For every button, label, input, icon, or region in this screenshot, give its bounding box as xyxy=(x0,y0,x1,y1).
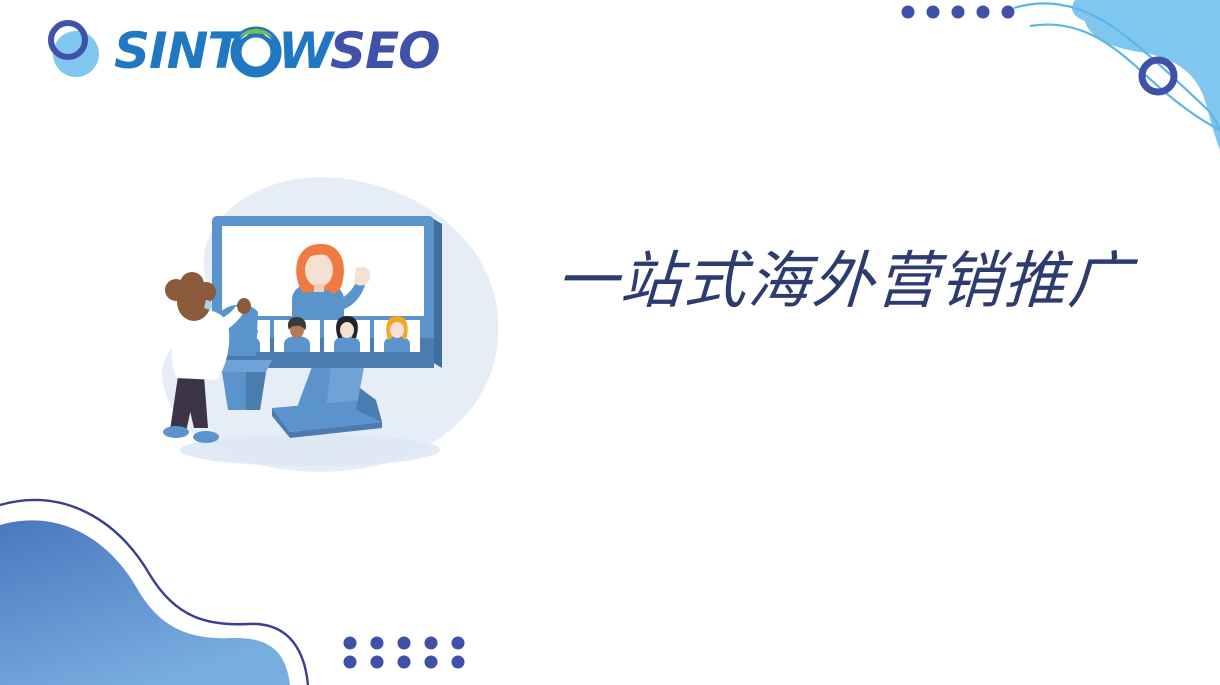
logo-text-w: W xyxy=(278,22,336,80)
bottom-dot-grid xyxy=(344,637,465,669)
presenter-hand xyxy=(237,298,251,314)
logo-o-glyph xyxy=(236,29,276,72)
participant-thumb-2 xyxy=(274,317,320,352)
video-conference-illustration xyxy=(120,160,520,500)
bottom-left-blob xyxy=(0,520,290,685)
headline: 一站式海外营销推广 xyxy=(556,238,1156,324)
floor-shadow xyxy=(180,434,440,466)
slide-canvas: SINT W SEO xyxy=(0,0,1220,685)
top-dot-row xyxy=(902,6,1015,19)
brand-logo[interactable]: SINT W SEO xyxy=(40,14,460,86)
participant-thumb-4 xyxy=(374,316,420,352)
navy-ring-decoration xyxy=(1142,60,1174,92)
presenter-shoe-back xyxy=(193,431,219,443)
headline-text: 一站式海外营销推广 xyxy=(554,248,1133,313)
logo-text-seo: SEO xyxy=(330,22,440,80)
bottom-left-outline-curve xyxy=(0,500,308,685)
presenter-shoe-front xyxy=(163,426,189,438)
logo-text-sinto: SINT xyxy=(114,22,245,80)
participant-thumb-3 xyxy=(324,316,370,352)
presenter-hair-bun-3 xyxy=(196,282,216,302)
top-right-wave xyxy=(1014,0,1220,150)
brand-logo-svg: SINT W SEO xyxy=(40,14,460,86)
video-conference-illustration-svg xyxy=(120,160,520,500)
